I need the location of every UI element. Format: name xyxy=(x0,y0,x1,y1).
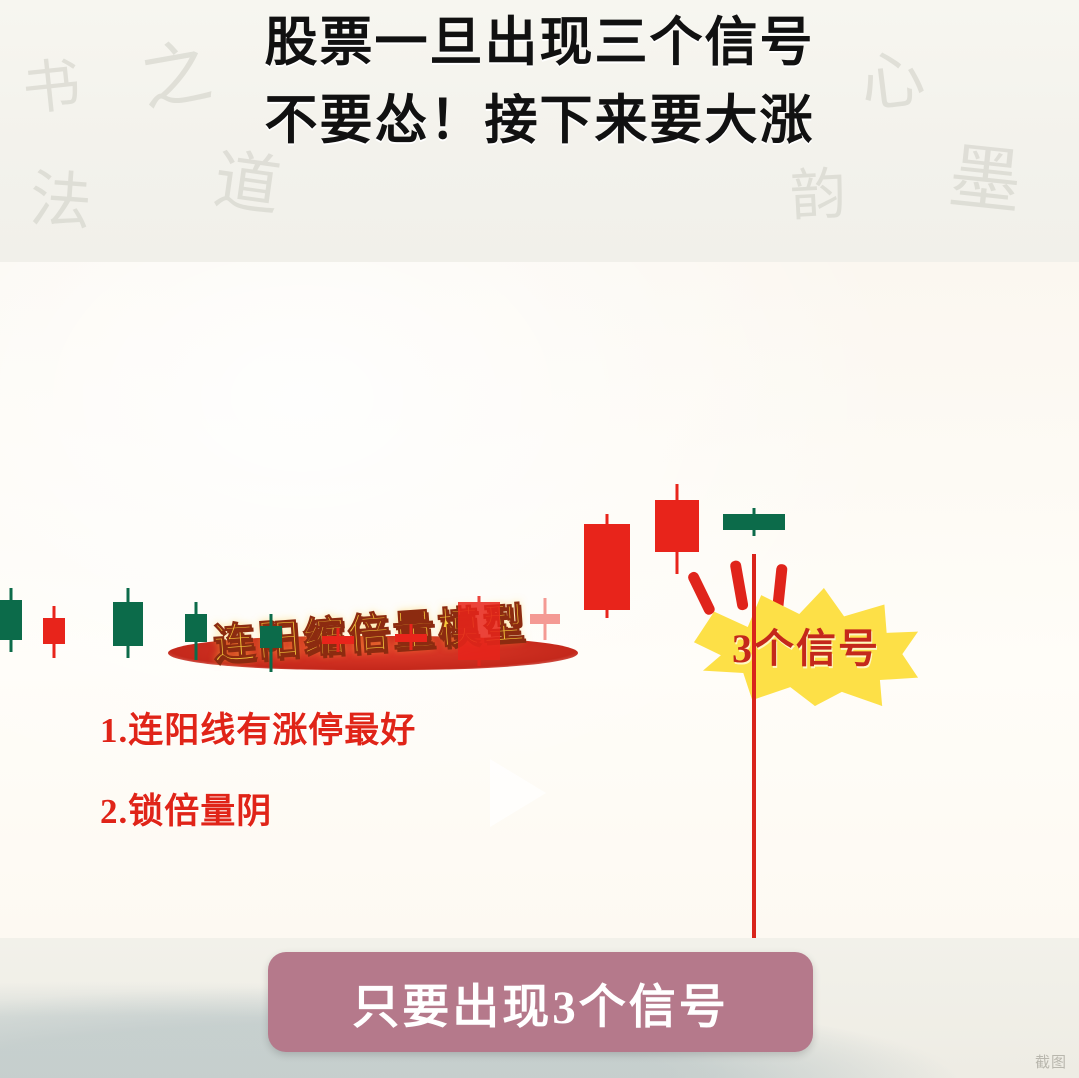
candle-3 xyxy=(185,262,207,922)
candle-body xyxy=(584,524,630,610)
candle-1 xyxy=(43,262,65,922)
title-line-1: 股票一旦出现三个信号 xyxy=(265,14,815,72)
model-banner: 连阳缩倍量模型 xyxy=(150,600,590,670)
candle-10 xyxy=(655,262,699,922)
arrow-shaft xyxy=(752,554,756,938)
footer-watermark: 截图 xyxy=(1035,1051,1067,1072)
candle-5 xyxy=(322,262,354,922)
candle-body xyxy=(723,514,785,530)
candle-body xyxy=(0,600,22,640)
header-banner: 书 法 之 道 心 墨 韵 股票一旦出现三个信号 不要怂！接下来要大涨 xyxy=(0,0,1079,262)
candle-body xyxy=(530,614,560,624)
candle-4 xyxy=(260,262,282,922)
candle-6 xyxy=(395,262,427,922)
candle-8 xyxy=(530,262,560,922)
candle-body xyxy=(185,614,207,642)
candle-body xyxy=(458,602,500,660)
page-title: 股票一旦出现三个信号 不要怂！接下来要大涨 xyxy=(0,10,1079,155)
candle-body xyxy=(113,602,143,646)
candle-body xyxy=(260,626,282,648)
cta-button[interactable]: 只要出现3个信号 xyxy=(268,952,813,1052)
calligraphy-glyph: 法 xyxy=(27,148,95,242)
calligraphy-glyph: 韵 xyxy=(788,149,848,233)
poster-root: 书 法 之 道 心 墨 韵 股票一旦出现三个信号 不要怂！接下来要大涨 连阳缩倍… xyxy=(0,0,1079,1078)
candle-body xyxy=(322,636,354,644)
candle-body xyxy=(655,500,699,552)
title-line-2: 不要怂！接下来要大涨 xyxy=(0,88,1079,154)
candle-9 xyxy=(584,262,630,922)
candle-body xyxy=(395,634,427,642)
candle-body xyxy=(43,618,65,644)
candle-2 xyxy=(113,262,143,922)
candle-7 xyxy=(458,262,500,922)
cta-label: 只要出现3个信号 xyxy=(352,968,729,1037)
candle-0 xyxy=(0,262,22,922)
chart-panel: 连阳缩倍量模型 3个信号 1.连阳线有涨停最好 2.锁倍量阴 3.倍量阴次日收缩… xyxy=(0,262,1079,938)
signal-badge: 3个信号 xyxy=(672,562,940,712)
